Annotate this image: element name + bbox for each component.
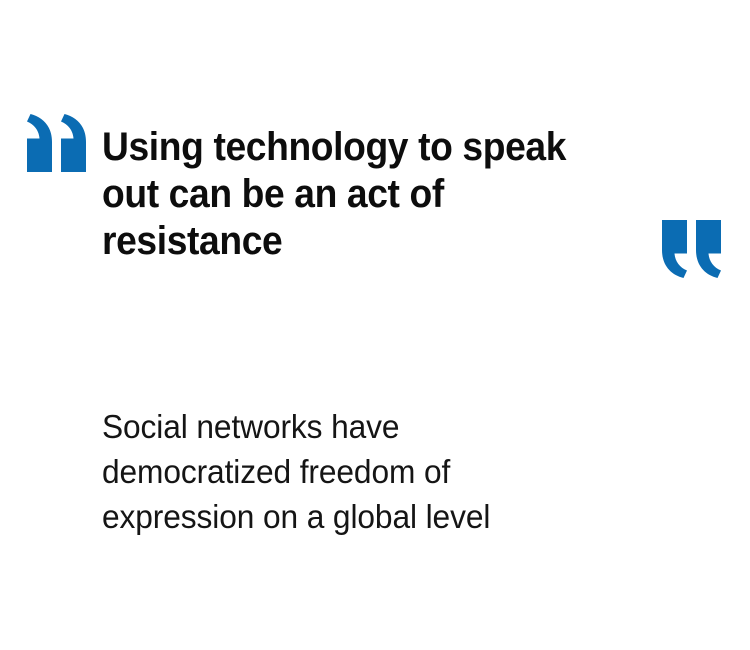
quote-headline-line-1: Using technology to speak [102, 124, 595, 171]
quote-body-line-3: expression on a global level [102, 494, 640, 539]
quote-headline: Using technology to speak out can be an … [102, 124, 595, 265]
quote-body-line-2: democratized freedom of [102, 449, 640, 494]
quote-body-text: Social networks have democratized freedo… [102, 404, 640, 539]
quote-body-line-1: Social networks have [102, 404, 640, 449]
quote-headline-line-2: out can be an act of [102, 171, 595, 218]
pull-quote-card: Using technology to speak out can be an … [0, 0, 750, 650]
close-quotation-mark-icon [662, 220, 722, 278]
quote-headline-line-3: resistance [102, 218, 595, 265]
open-quotation-mark-icon [27, 114, 87, 172]
